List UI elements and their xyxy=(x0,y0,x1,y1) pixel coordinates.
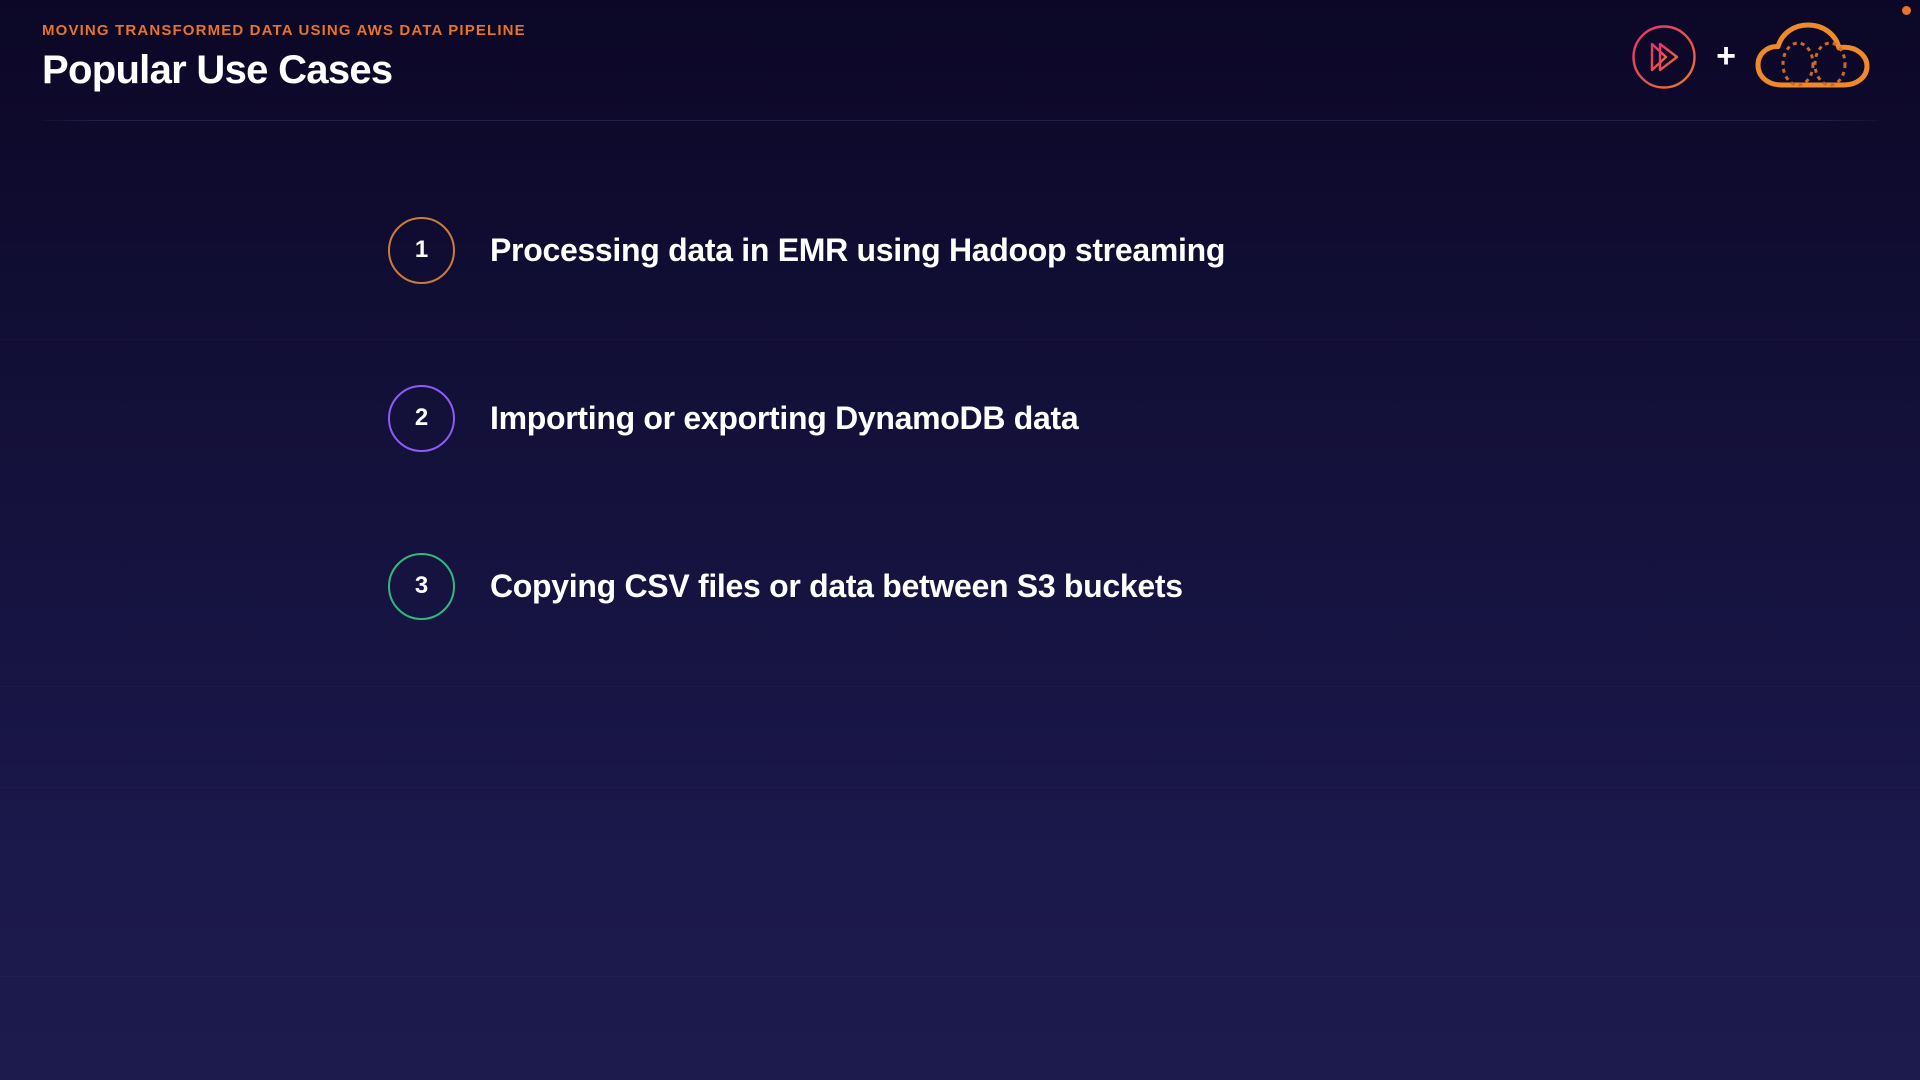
page-title: Popular Use Cases xyxy=(42,49,526,91)
logo-group: + xyxy=(1630,18,1872,96)
background-band xyxy=(0,976,1920,977)
plus-separator: + xyxy=(1698,39,1754,75)
use-case-item-3: 3 Copying CSV files or data between S3 b… xyxy=(388,544,1788,628)
use-case-item-1: 1 Processing data in EMR using Hadoop st… xyxy=(388,208,1788,292)
badge-number: 2 xyxy=(415,406,428,430)
header-divider xyxy=(42,120,1878,121)
use-case-label-2: Importing or exporting DynamoDB data xyxy=(490,399,1078,437)
use-case-label-1: Processing data in EMR using Hadoop stre… xyxy=(490,231,1225,269)
background-band xyxy=(0,787,1920,788)
use-case-number-badge-1: 1 xyxy=(388,217,455,284)
slide-header: MOVING TRANSFORMED DATA USING AWS DATA P… xyxy=(0,0,1920,128)
use-case-label-3: Copying CSV files or data between S3 buc… xyxy=(490,567,1183,605)
slide-eyebrow: MOVING TRANSFORMED DATA USING AWS DATA P… xyxy=(42,22,526,40)
header-text-block: MOVING TRANSFORMED DATA USING AWS DATA P… xyxy=(42,22,526,91)
use-case-number-badge-3: 3 xyxy=(388,553,455,620)
badge-number: 1 xyxy=(415,238,428,262)
cloud-logo xyxy=(1754,21,1872,93)
badge-number: 3 xyxy=(415,574,428,598)
use-case-item-2: 2 Importing or exporting DynamoDB data xyxy=(388,376,1788,460)
play-circle-logo xyxy=(1630,23,1698,91)
use-case-number-badge-2: 2 xyxy=(388,385,455,452)
corner-dot-icon xyxy=(1902,6,1911,15)
use-case-list: 1 Processing data in EMR using Hadoop st… xyxy=(388,208,1788,712)
